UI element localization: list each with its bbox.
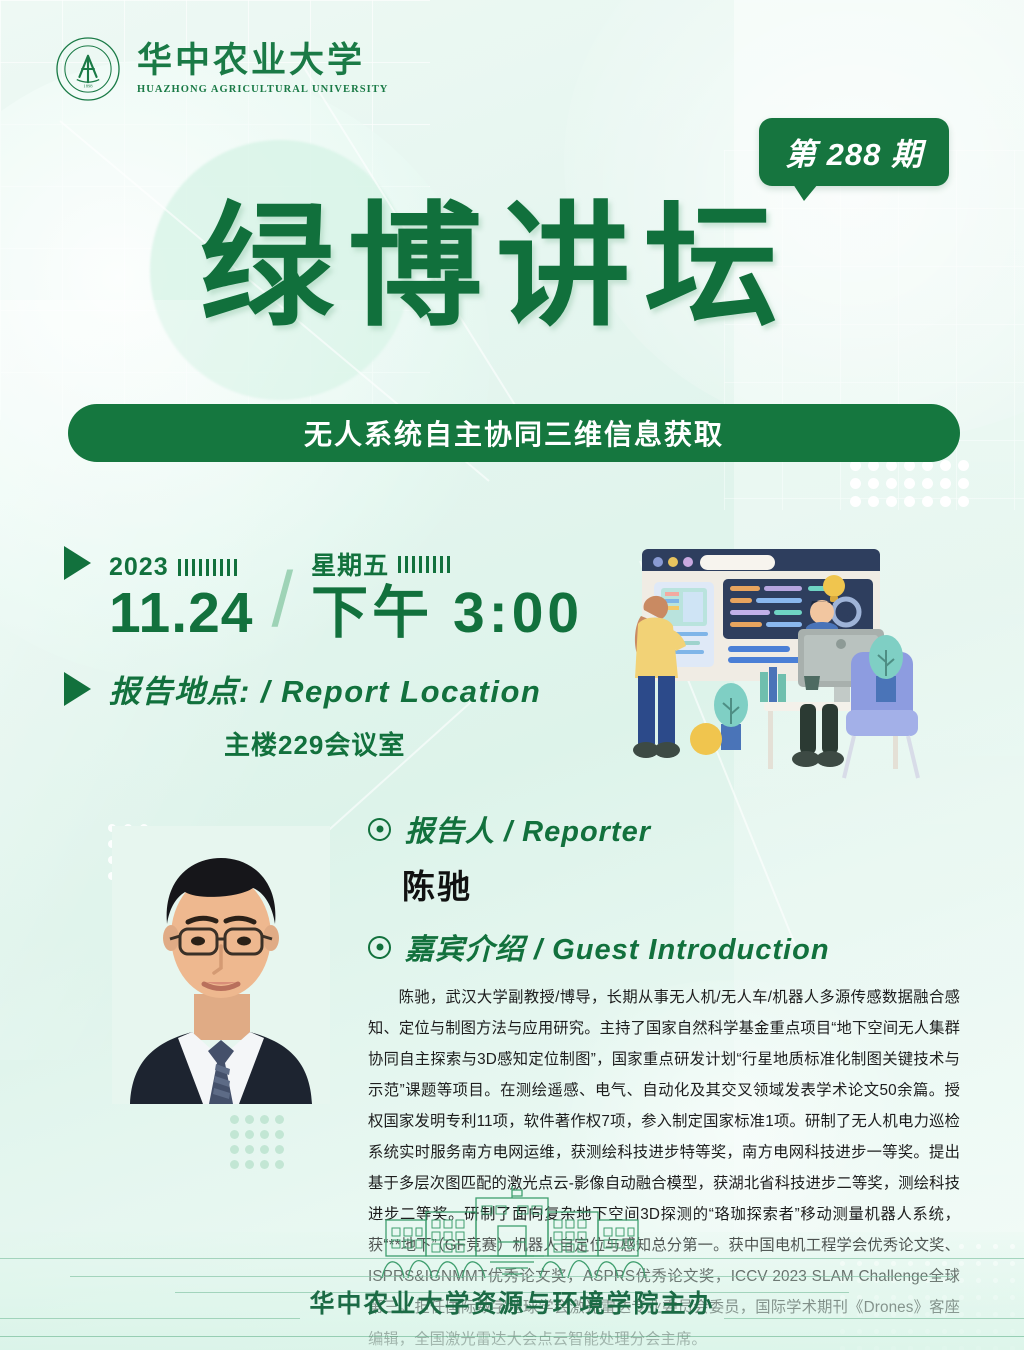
weekday-label: 星期五 <box>311 546 389 582</box>
location-room: 主楼229会议室 <box>224 725 541 762</box>
ring-bullet-icon-reporter <box>368 818 391 841</box>
university-seal-icon: 1898 <box>55 36 121 102</box>
guest-intro-heading-row: 嘉宾介绍 / Guest Introduction <box>368 926 960 968</box>
location-heading-row: 报告地点: / Report Location <box>64 666 541 711</box>
logo-wordmark: 华中农业大学 HUAZHONG AGRICULTURAL UNIVERSITY <box>137 43 388 95</box>
location-block: 报告地点: / Report Location 主楼229会议室 <box>64 666 541 762</box>
campus-building-illustration <box>330 1186 694 1298</box>
location-heading: 报告地点: / Report Location <box>109 666 541 711</box>
time-column: 星期五 下午 3:00 <box>311 546 583 642</box>
svg-text:1898: 1898 <box>83 83 93 88</box>
year-label: 2023 <box>109 553 169 582</box>
speaker-portrait <box>112 826 330 1104</box>
reporter-name: 陈驰 <box>402 860 960 908</box>
logo-name-cn: 华中农业大学 <box>137 43 388 80</box>
hatch-marks-year-icon <box>178 559 240 576</box>
reporter-heading: 报告人 / Reporter <box>405 808 651 850</box>
footer-rule-1 <box>0 1258 1024 1259</box>
ring-bullet-icon-guest <box>368 936 391 959</box>
time-value: 下午 3:00 <box>311 584 583 642</box>
logo-name-en: HUAZHONG AGRICULTURAL UNIVERSITY <box>137 84 388 95</box>
time-clock-label: 3:00 <box>453 581 583 645</box>
issue-number-badge: 第 288 期 <box>759 118 949 186</box>
footer-rule-2 <box>70 1276 954 1277</box>
date-value: 11.24 <box>109 584 254 642</box>
play-triangle-icon <box>64 546 91 580</box>
workplace-illustration <box>608 524 1004 812</box>
hatch-marks-weekday-icon <box>398 556 454 573</box>
play-triangle-icon-location <box>64 672 91 706</box>
page-title: 绿博讲坛 <box>200 196 792 341</box>
weekday-row: 星期五 <box>311 546 583 582</box>
year-row: 2023 <box>109 553 254 582</box>
guest-intro-heading: 嘉宾介绍 / Guest Introduction <box>405 926 830 968</box>
separator-slash-1: / <box>272 564 294 636</box>
poster-footer: 华中农业大学资源与环境学院主办 <box>0 1232 1024 1350</box>
reporter-heading-row: 报告人 / Reporter <box>368 808 960 850</box>
schedule-columns: 2023 11.24 / 星期五 下午 3:00 <box>109 546 583 642</box>
university-logo: 1898 华中农业大学 HUAZHONG AGRICULTURAL UNIVER… <box>55 36 388 102</box>
date-column: 2023 11.24 <box>109 553 254 642</box>
lecture-subtitle: 无人系统自主协同三维信息获取 <box>68 404 960 462</box>
dot-grid-left <box>230 1115 284 1169</box>
poster-root: 1898 华中农业大学 HUAZHONG AGRICULTURAL UNIVER… <box>0 0 1024 1350</box>
schedule-block: 2023 11.24 / 星期五 下午 3:00 <box>64 546 583 642</box>
footer-rule-bottom <box>0 1336 1024 1337</box>
footer-organizer: 华中农业大学资源与环境学院主办 <box>0 1284 1024 1320</box>
time-period-label: 下午 <box>311 581 433 645</box>
dot-grid-subtitle <box>850 460 969 507</box>
